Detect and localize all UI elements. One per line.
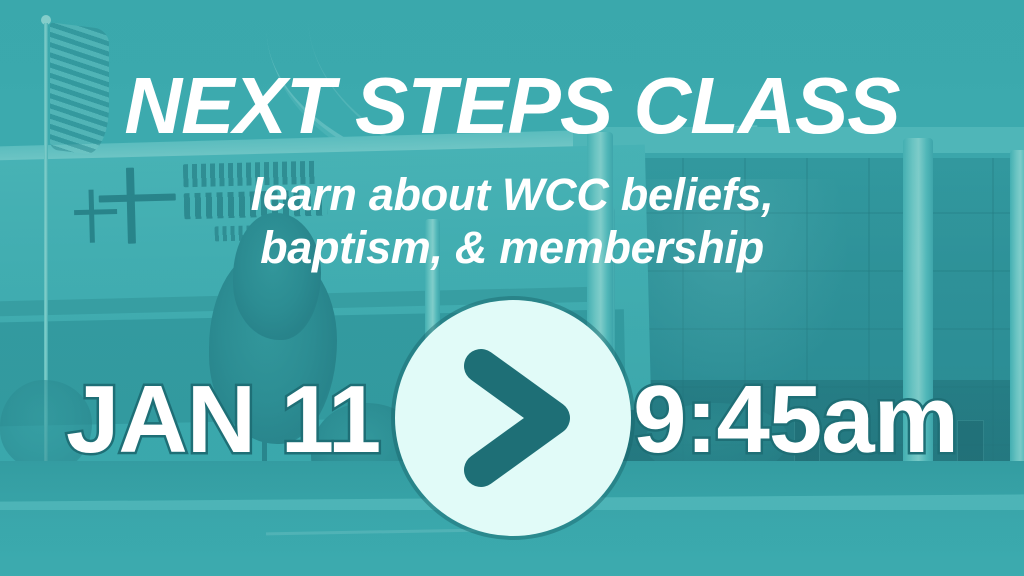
- event-date: JAN 11: [66, 372, 380, 468]
- page-title: NEXT STEPS CLASS: [0, 66, 1024, 146]
- promo-slide: NEXT STEPS CLASS learn about WCC beliefs…: [0, 0, 1024, 576]
- subtitle-line-2: baptism, & membership: [0, 221, 1024, 274]
- play-medallion[interactable]: [395, 300, 631, 536]
- subtitle-line-1: learn about WCC beliefs,: [0, 168, 1024, 221]
- chevron-right-play-icon: [395, 300, 631, 536]
- event-time: 9:45am: [633, 372, 958, 468]
- subtitle: learn about WCC beliefs, baptism, & memb…: [0, 168, 1024, 274]
